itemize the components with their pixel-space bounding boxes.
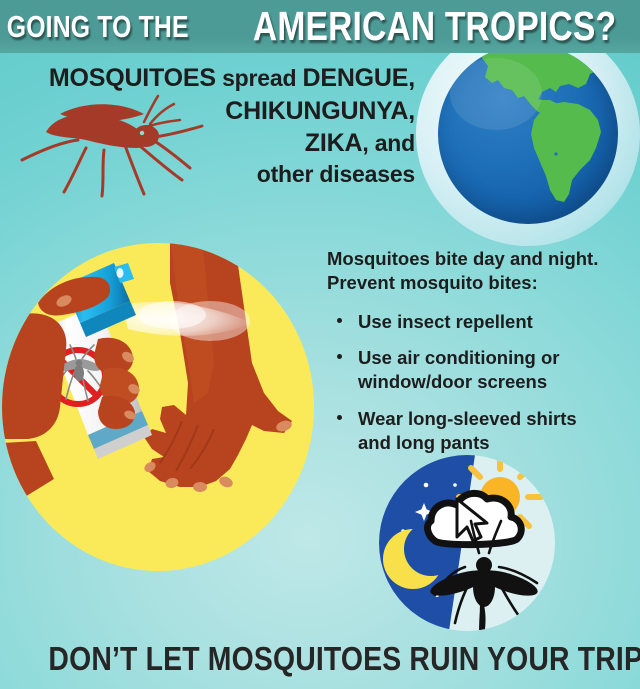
instructions-lead: Mosquitoes bite day and night. Prevent m… [327,247,627,296]
headline-word-zika: ZIKA [305,129,363,157]
day-night-svg [379,455,555,631]
list-item: Use air conditioning or window/door scre… [327,346,627,393]
repellent-spray-illustration [2,243,314,571]
prevention-bullet-list: Use insect repellent Use air conditionin… [327,310,627,454]
title-emphasis: AMERICAN TROPICS? [253,6,616,47]
headline-text: MOSQUITOES spread DENGUE, CHIKUNGUNYA, Z… [10,62,415,189]
headline-word-mosquitoes: MOSQUITOES [49,64,216,92]
headline-line-1: MOSQUITOES spread DENGUE, [10,62,415,95]
instructions-lead-line-2: Prevent mosquito bites: [327,271,627,295]
bullet-dot-icon [337,318,342,323]
headline-word-spread: spread [216,65,303,91]
headline-line-4: other diseases [10,160,415,190]
infographic-poster: GOING TO THE AMERICAN TROPICS? [0,0,640,689]
bullet-line-2: and long pants [358,432,490,453]
bullet-line-1: Use insect repellent [358,311,533,332]
footer-tagline: DON’T LET MOSQUITOES RUIN YOUR TRIP [0,640,640,678]
headline-word-dengue: DENGUE, [302,64,415,92]
poster-title: GOING TO THE AMERICAN TROPICS? [0,0,640,53]
list-item: Use insect repellent [327,310,627,334]
footer-tagline-text: DON’T LET MOSQUITOES RUIN YOUR TRIP [48,640,640,678]
day-night-illustration [379,455,555,631]
prevention-instructions: Mosquitoes bite day and night. Prevent m… [327,247,627,467]
headline-word-and: , and [362,130,415,156]
headline-line-2: CHIKUNGUNYA, [10,95,415,128]
globe-continents [438,44,618,224]
bullet-line-1: Wear long-sleeved shirts [358,408,577,429]
bullet-dot-icon [337,354,342,359]
list-item: Wear long-sleeved shirts and long pants [327,407,627,454]
bullet-line-2: window/door screens [358,371,547,392]
bullet-line-1: Use air conditioning or [358,347,559,368]
spray-mist [122,301,252,341]
bullet-dot-icon [337,415,342,420]
arm-and-hand [143,243,294,492]
spray-scene-svg [2,243,314,571]
instructions-lead-line-1: Mosquitoes bite day and night. [327,247,627,271]
headline-line-3: ZIKA, and [10,127,415,160]
americas-globe-icon [438,44,618,224]
title-prefix: GOING TO THE [7,11,189,42]
